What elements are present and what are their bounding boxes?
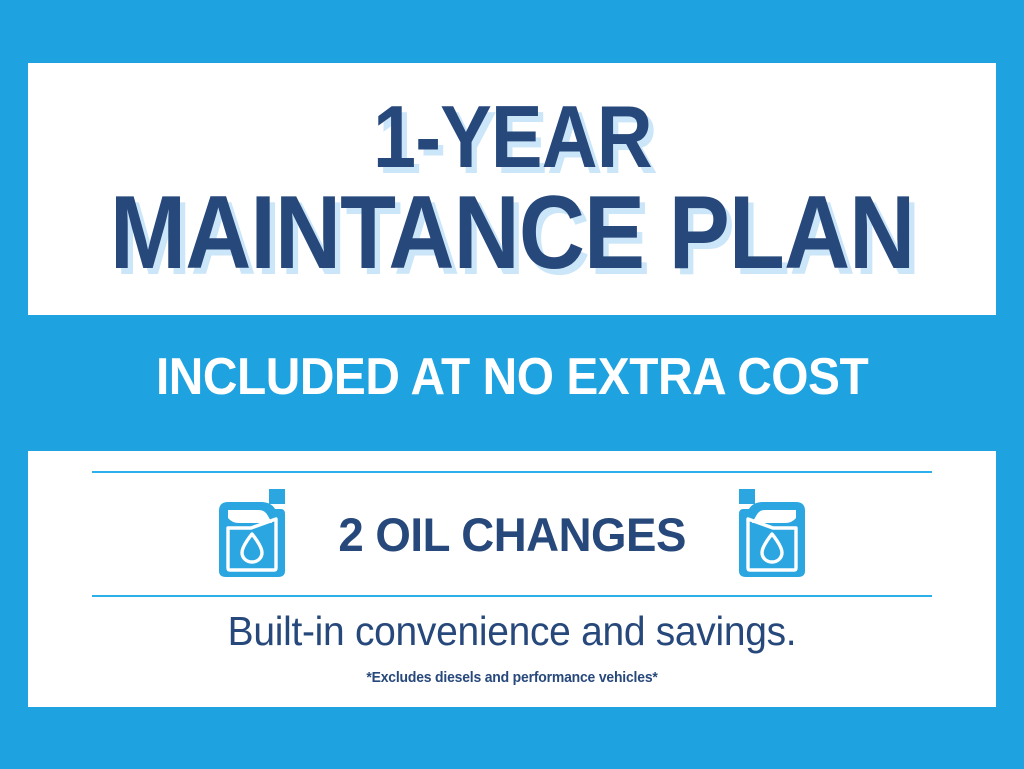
subheadline-band: INCLUDED AT NO EXTRA COST [0, 337, 1024, 417]
headline-line-1: 1-YEAR [373, 94, 652, 179]
promotional-poster: 1-YEAR MAINTANCE PLAN INCLUDED AT NO EXT… [0, 0, 1024, 769]
headline-panel: 1-YEAR MAINTANCE PLAN [28, 63, 996, 315]
offer-title: 2 OIL CHANGES [338, 507, 686, 562]
divider-bottom [92, 595, 932, 597]
offer-row: 2 OIL CHANGES [28, 473, 996, 595]
tagline: Built-in convenience and savings. [52, 608, 972, 655]
headline-line-2: MAINTANCE PLAN [110, 183, 915, 284]
subheadline-text: INCLUDED AT NO EXTRA COST [156, 351, 868, 403]
fineprint-disclaimer: *Excludes diesels and performance vehicl… [62, 669, 962, 686]
oil-jug-icon-right [735, 489, 809, 579]
offer-card: 2 OIL CHANGES Built-in convenience and s… [28, 451, 996, 707]
oil-jug-icon-left [215, 489, 289, 579]
